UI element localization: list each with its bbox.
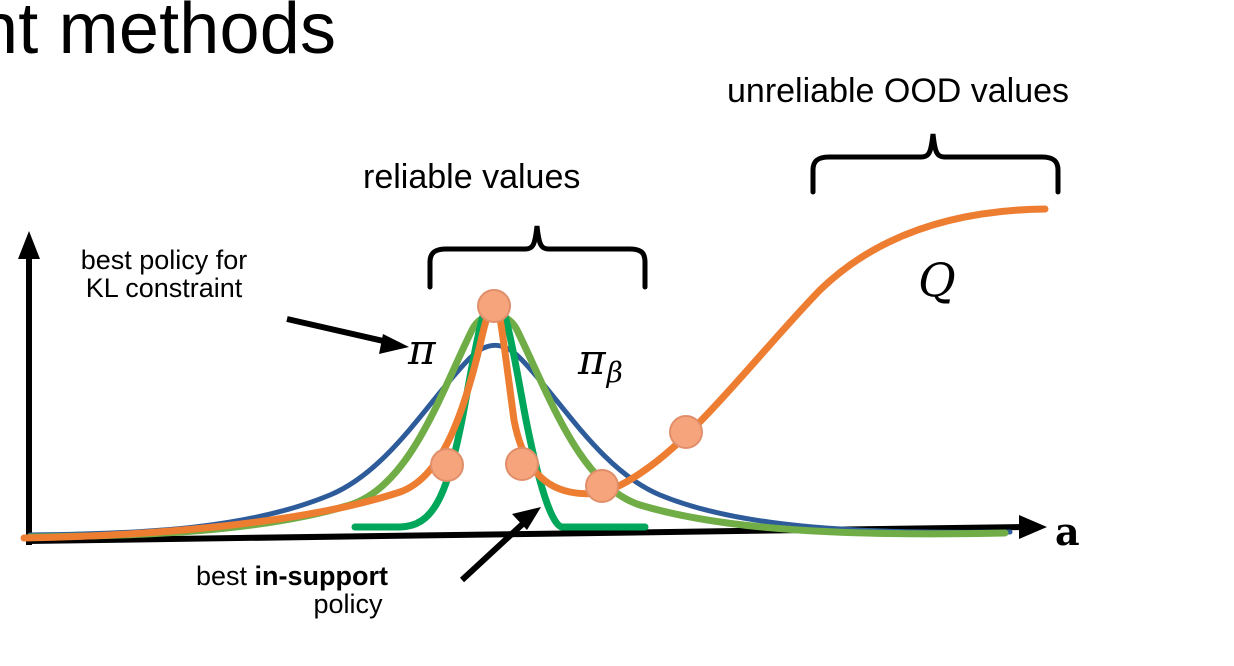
data-point [431,449,463,481]
in-support-policy-annotation-prefix: best [196,561,255,591]
y-axis [18,231,40,545]
in-support-policy-annotation-emphasis: in-support [255,561,388,591]
data-point [478,290,510,322]
kl-constraint-annotation-line2: KL constraint [48,274,280,302]
brace-unreliable-ood-values [813,134,1058,192]
in-support-policy-annotation: best in-support policy [196,562,456,619]
pi-curve-label: π [408,328,436,372]
pi-beta-subscript: β [606,356,623,389]
reliable-values-caption: reliable values [363,160,580,196]
kl-constraint-annotation-line1: best policy for [81,245,248,275]
in-support-policy-annotation-line2: policy [196,590,456,618]
brace-reliable-values [430,226,645,287]
unreliable-ood-values-caption: unreliable OOD values [727,74,1069,110]
arrow-in-support-policy-to-curve [462,507,541,580]
data-point [670,416,702,448]
data-points-group [431,290,702,502]
pi-beta-curve-label: πβ [578,338,623,388]
data-point [586,470,618,502]
pi-beta-base: π [578,335,606,384]
slide-title: nt methods [0,0,336,68]
kl-constraint-annotation: best policy for KL constraint [48,246,280,303]
x-axis-label: a [1055,512,1080,552]
arrow-kl-constraint-to-pi [287,319,409,354]
slide-canvas: nt methods reliable values unreliable OO… [0,0,1234,666]
q-function-label: Q [918,256,956,304]
data-point [506,448,538,480]
